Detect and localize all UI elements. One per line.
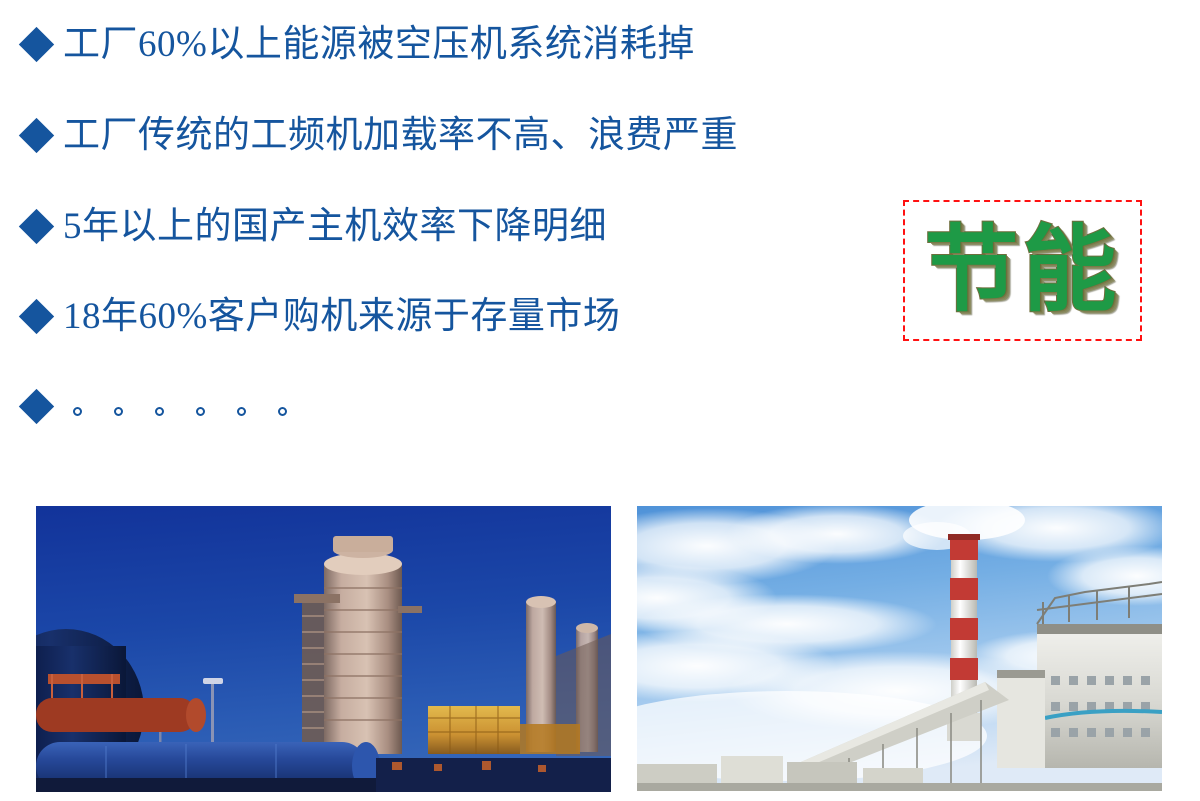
refinery-illustration	[36, 506, 611, 792]
power-plant-photo	[637, 506, 1162, 791]
bullet-item-2: 5年以上的国产主机效率下降明细	[24, 198, 607, 254]
energy-saving-stamp-box: 节能	[903, 200, 1142, 341]
ideographic-period-icon	[155, 407, 164, 416]
ideographic-period-icon	[73, 407, 82, 416]
diamond-bullet-icon	[19, 388, 54, 423]
bullet-item-4	[24, 378, 287, 434]
slide-canvas: 工厂60%以上能源被空压机系统消耗掉 工厂传统的工频机加载率不高、浪费严重 5年…	[0, 0, 1200, 801]
bullet-item-3-label: 18年60%客户购机来源于存量市场	[63, 298, 620, 335]
ideographic-period-icon	[278, 407, 287, 416]
bullet-item-0-label: 工厂60%以上能源被空压机系统消耗掉	[63, 26, 695, 63]
bullet-item-0: 工厂60%以上能源被空压机系统消耗掉	[24, 16, 695, 72]
bullet-item-4-ellipsis	[73, 407, 287, 416]
diamond-bullet-icon	[19, 117, 54, 152]
energy-saving-stamp-label: 节能	[924, 224, 1120, 318]
diamond-bullet-icon	[19, 26, 54, 61]
ideographic-period-icon	[237, 407, 246, 416]
ideographic-period-icon	[196, 407, 205, 416]
diamond-bullet-icon	[19, 298, 54, 333]
refinery-at-dusk-photo	[36, 506, 611, 792]
bullet-item-1-label: 工厂传统的工频机加载率不高、浪费严重	[63, 117, 738, 154]
bullet-item-2-label: 5年以上的国产主机效率下降明细	[63, 208, 607, 245]
diamond-bullet-icon	[19, 208, 54, 243]
ideographic-period-icon	[114, 407, 123, 416]
bullet-item-3: 18年60%客户购机来源于存量市场	[24, 288, 620, 344]
power-plant-illustration	[637, 506, 1162, 791]
bullet-item-1: 工厂传统的工频机加载率不高、浪费严重	[24, 107, 738, 163]
